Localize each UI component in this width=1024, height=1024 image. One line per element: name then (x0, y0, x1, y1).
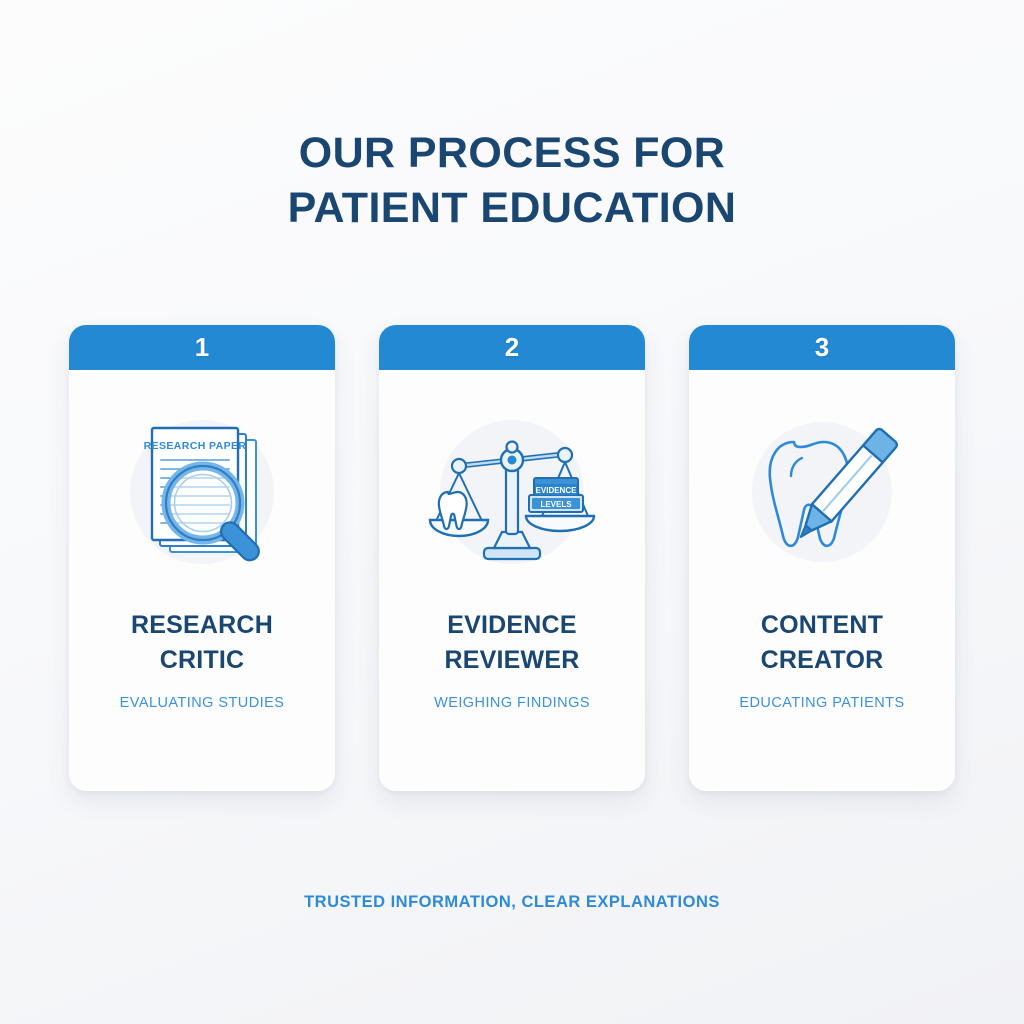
card-1-body: RESEARCH PAPER (69, 370, 335, 791)
research-paper-magnifier-icon: RESEARCH PAPER (112, 400, 292, 580)
card-2-body: EVIDENCE LEVELS EVIDENCE REVIEWER WEIGHI… (379, 370, 645, 791)
card-1-title-line-2: CRITIC (131, 643, 273, 679)
page-title-line-2: PATIENT EDUCATION (288, 181, 737, 236)
footer-tagline: TRUSTED INFORMATION, CLEAR EXPLANATIONS (0, 893, 1024, 912)
card-1-title-line-1: RESEARCH (131, 608, 273, 644)
card-2-title: EVIDENCE REVIEWER (435, 608, 590, 679)
card-3-title-line-2: CREATOR (761, 643, 884, 679)
card-2-step-number: 2 (505, 334, 519, 360)
card-3-number-band: 3 (689, 325, 955, 370)
infographic-root: OUR PROCESS FOR PATIENT EDUCATION 1 (0, 0, 1024, 1024)
card-1-number-band: 1 (69, 325, 335, 370)
process-card-1[interactable]: 1 RESEARCH PAPER (69, 325, 335, 791)
card-1-step-number: 1 (195, 334, 209, 360)
card-2-number-band: 2 (379, 325, 645, 370)
card-2-subtitle: WEIGHING FINDINGS (434, 695, 590, 711)
card-1-title: RESEARCH CRITIC (121, 608, 283, 679)
balance-scale-tooth-icon: EVIDENCE LEVELS (422, 400, 602, 580)
page-title: OUR PROCESS FOR PATIENT EDUCATION (288, 126, 737, 236)
card-2-title-line-2: REVIEWER (445, 643, 580, 679)
evidence-block-label-line-1: EVIDENCE (536, 486, 578, 495)
research-paper-icon-label: RESEARCH PAPER (144, 440, 247, 452)
card-3-title: CONTENT CREATOR (751, 608, 894, 679)
card-3-subtitle: EDUCATING PATIENTS (739, 695, 904, 711)
card-3-step-number: 3 (815, 334, 829, 360)
card-1-subtitle: EVALUATING STUDIES (120, 695, 285, 711)
card-2-title-line-1: EVIDENCE (445, 608, 580, 644)
page-title-line-1: OUR PROCESS FOR (288, 126, 737, 181)
card-3-title-line-1: CONTENT (761, 608, 884, 644)
evidence-block-label-line-2: LEVELS (540, 500, 572, 509)
card-3-body: CONTENT CREATOR EDUCATING PATIENTS (689, 370, 955, 791)
process-card-2[interactable]: 2 (379, 325, 645, 791)
process-card-3[interactable]: 3 (689, 325, 955, 791)
process-steps-row: 1 RESEARCH PAPER (69, 325, 955, 791)
tooth-pencil-icon (732, 400, 912, 580)
